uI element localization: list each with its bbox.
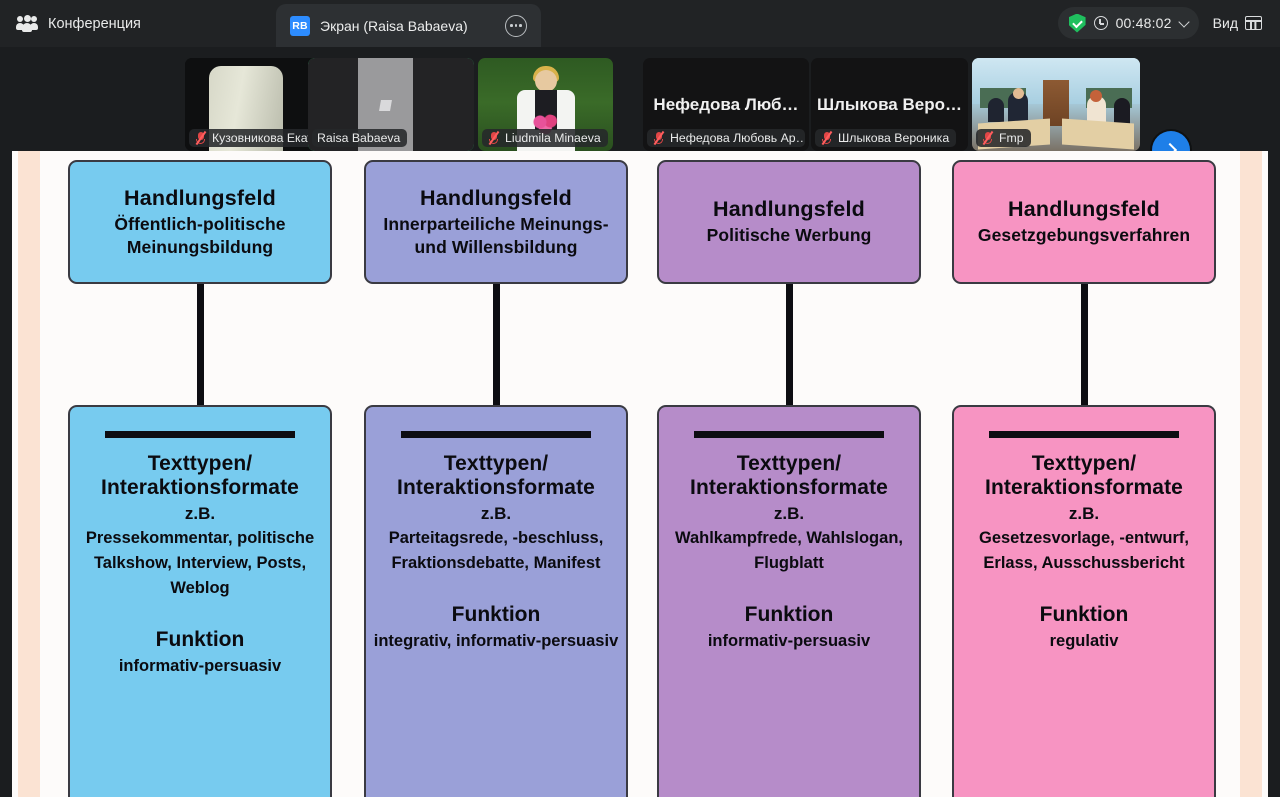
participant-name-tag: Liudmila Minaeva xyxy=(482,129,608,147)
meeting-timer[interactable]: 00:48:02 xyxy=(1058,7,1199,39)
participant-name: Liudmila Minaeva xyxy=(505,131,601,145)
meeting-tab-label: Конференция xyxy=(48,16,141,32)
people-icon xyxy=(16,15,38,33)
participant-name-tag: Fmp xyxy=(976,129,1031,147)
presentation-slide: Handlungsfeld Öffentlich-politische Mein… xyxy=(12,151,1268,797)
screen-share-tab[interactable]: RB Экран (Raisa Babaeva) xyxy=(276,4,541,47)
texttypen-examples: Parteitagsrede, -beschluss, Fraktionsdeb… xyxy=(366,526,626,576)
texttypen-title: Texttypen/ Interaktionsformate xyxy=(366,452,626,500)
funktion-text: integrativ, informativ-persuasiv xyxy=(366,629,626,654)
microphone-muted-icon xyxy=(652,131,665,145)
participant-thumbnail-active[interactable]: Raisa Babaeva xyxy=(308,58,474,151)
participant-thumbnail[interactable]: Fmp xyxy=(972,58,1140,151)
participant-filmstrip: Кузовникова Екатери… Raisa Babaeva Liudm xyxy=(0,47,1280,151)
handlungsfeld-name: Öffentlich-politische Meinungsbildung xyxy=(70,213,330,259)
handlungsfeld-box-4: Handlungsfeld Gesetzgebungsverfahren xyxy=(952,160,1216,284)
participant-thumbnail[interactable]: Шлыкова Веро… Шлыкова Вероника xyxy=(811,58,968,151)
connector-line-1 xyxy=(197,284,204,405)
funktion-title: Funktion xyxy=(70,628,330,652)
participant-name-tag: Raisa Babaeva xyxy=(312,129,407,147)
handlungsfeld-name: Gesetzgebungsverfahren xyxy=(968,224,1200,247)
timer-value: 00:48:02 xyxy=(1116,15,1172,31)
handlungsfeld-box-2: Handlungsfeld Innerparteiliche Meinungs-… xyxy=(364,160,628,284)
screen-share-tab-label: Экран (Raisa Babaeva) xyxy=(320,18,495,34)
more-options-icon[interactable] xyxy=(505,15,527,37)
image-placeholder-icon xyxy=(379,100,392,111)
connector-line-3 xyxy=(786,284,793,405)
texttypen-zb: z.B. xyxy=(659,504,919,524)
funktion-title: Funktion xyxy=(659,603,919,627)
divider xyxy=(105,431,295,438)
view-button-label: Вид xyxy=(1213,15,1238,31)
microphone-muted-icon xyxy=(194,131,207,145)
participant-thumbnail[interactable]: Liudmila Minaeva xyxy=(478,58,613,151)
divider xyxy=(401,431,591,438)
handlungsfeld-box-3: Handlungsfeld Politische Werbung xyxy=(657,160,921,284)
texttypen-title: Texttypen/ Interaktionsformate xyxy=(954,452,1214,500)
divider xyxy=(694,431,884,438)
funktion-title: Funktion xyxy=(366,603,626,627)
funktion-text: informativ-persuasiv xyxy=(70,654,330,679)
texttypen-examples: Wahlkampfrede, Wahlslogan, Flugblatt xyxy=(659,526,919,576)
participant-name: Кузовникова Екатери… xyxy=(212,131,316,145)
conference-window: Конференция RB Экран (Raisa Babaeva) 00:… xyxy=(0,0,1280,797)
top-bar: Конференция RB Экран (Raisa Babaeva) 00:… xyxy=(0,0,1280,47)
funktion-title: Funktion xyxy=(954,603,1214,627)
texttypen-zb: z.B. xyxy=(70,504,330,524)
texttypen-title: Texttypen/ Interaktionsformate xyxy=(659,452,919,500)
handlungsfeld-box-1: Handlungsfeld Öffentlich-politische Mein… xyxy=(68,160,332,284)
texttypen-box-1: Texttypen/ Interaktionsformate z.B. Pres… xyxy=(68,405,332,797)
texttypen-zb: z.B. xyxy=(366,504,626,524)
shield-check-icon xyxy=(1069,14,1086,33)
connector-line-2 xyxy=(493,284,500,405)
handlungsfeld-title: Handlungsfeld xyxy=(124,186,276,211)
funktion-text: informativ-persuasiv xyxy=(659,629,919,654)
layout-grid-icon xyxy=(1245,16,1262,30)
avatar: RB xyxy=(290,16,310,36)
divider xyxy=(989,431,1179,438)
texttypen-box-4: Texttypen/ Interaktionsformate z.B. Gese… xyxy=(952,405,1216,797)
participant-name: Fmp xyxy=(999,131,1024,145)
texttypen-title: Texttypen/ Interaktionsformate xyxy=(70,452,330,500)
participant-thumbnail[interactable]: Нефедова Люб… Нефедова Любовь Ар… xyxy=(643,58,809,151)
participant-name-tag: Нефедова Любовь Ар… xyxy=(647,129,805,147)
diagram: Handlungsfeld Öffentlich-politische Mein… xyxy=(12,151,1268,797)
handlungsfeld-title: Handlungsfeld xyxy=(713,197,865,222)
texttypen-box-2: Texttypen/ Interaktionsformate z.B. Part… xyxy=(364,405,628,797)
shared-content-area: Handlungsfeld Öffentlich-politische Mein… xyxy=(0,151,1280,797)
handlungsfeld-title: Handlungsfeld xyxy=(420,186,572,211)
meeting-tab[interactable]: Конференция xyxy=(0,0,157,47)
participant-name: Нефедова Любовь Ар… xyxy=(670,131,805,145)
chevron-down-icon[interactable] xyxy=(1178,16,1189,27)
texttypen-examples: Pressekommentar, politische Talkshow, In… xyxy=(70,526,330,601)
microphone-muted-icon xyxy=(487,131,500,145)
top-bar-right-controls: 00:48:02 Вид xyxy=(1058,7,1270,39)
funktion-text: regulativ xyxy=(954,629,1214,654)
texttypen-examples: Gesetzesvorlage, -entwurf, Erlass, Aussc… xyxy=(954,526,1214,576)
participant-name: Raisa Babaeva xyxy=(317,131,400,145)
clock-icon xyxy=(1094,16,1108,30)
handlungsfeld-name: Politische Werbung xyxy=(697,224,882,247)
texttypen-zb: z.B. xyxy=(954,504,1214,524)
texttypen-box-3: Texttypen/ Interaktionsformate z.B. Wahl… xyxy=(657,405,921,797)
handlungsfeld-title: Handlungsfeld xyxy=(1008,197,1160,222)
participant-thumbnail[interactable]: Кузовникова Екатери… xyxy=(185,58,320,151)
microphone-muted-icon xyxy=(981,131,994,145)
connector-line-4 xyxy=(1081,284,1088,405)
view-button[interactable]: Вид xyxy=(1205,7,1270,39)
participant-name-tag: Шлыкова Вероника xyxy=(815,129,956,147)
microphone-muted-icon xyxy=(820,131,833,145)
participant-name-tag: Кузовникова Екатери… xyxy=(189,129,316,147)
handlungsfeld-name: Innerparteiliche Meinungs- und Willensbi… xyxy=(366,213,626,259)
participant-name: Шлыкова Вероника xyxy=(838,131,949,145)
